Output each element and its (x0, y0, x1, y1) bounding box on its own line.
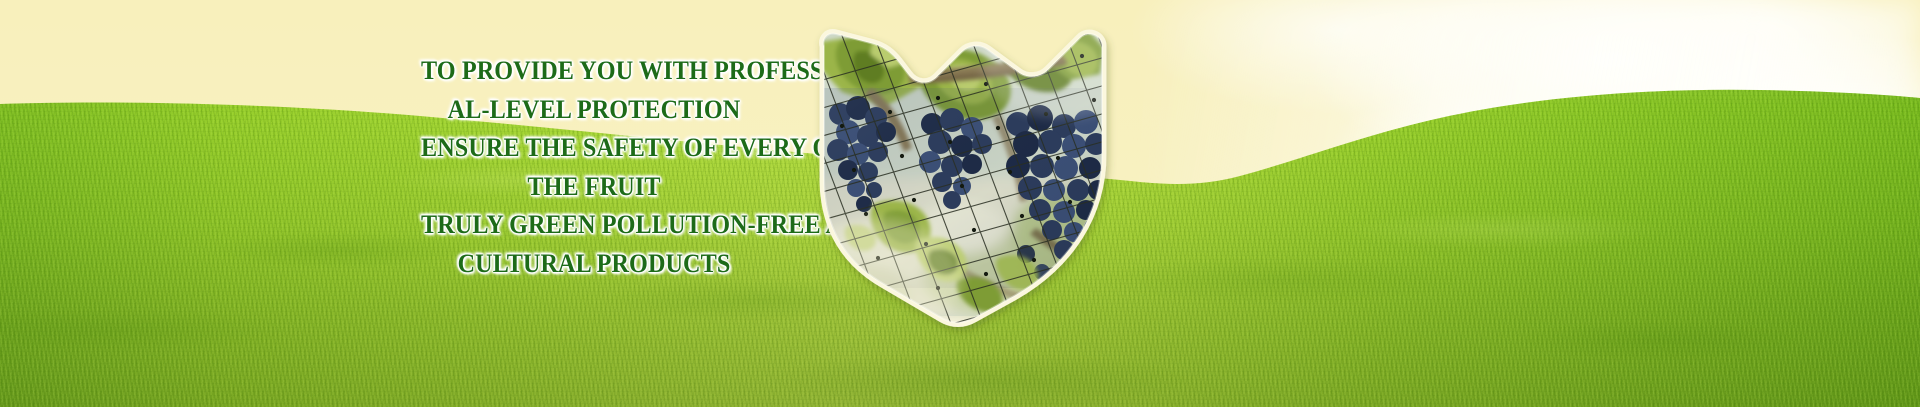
headline-text-block: TO PROVIDE YOU WITH PROFESSION- AL-LEVEL… (421, 52, 767, 283)
headline-line-5: TRULY GREEN POLLUTION-FREE AGRI- (421, 206, 767, 245)
headline-line-6: CULTURAL PRODUCTS (421, 245, 767, 284)
headline-line-4: THE FRUIT (421, 168, 767, 207)
shield-emblem (812, 28, 1110, 316)
headline-line-2: AL-LEVEL PROTECTION (421, 91, 767, 130)
hero-banner: TO PROVIDE YOU WITH PROFESSION- AL-LEVEL… (0, 0, 1920, 407)
headline-line-1: TO PROVIDE YOU WITH PROFESSION- (421, 52, 767, 91)
headline-line-3: ENSURE THE SAFETY OF EVERY ONE OF (421, 129, 767, 168)
